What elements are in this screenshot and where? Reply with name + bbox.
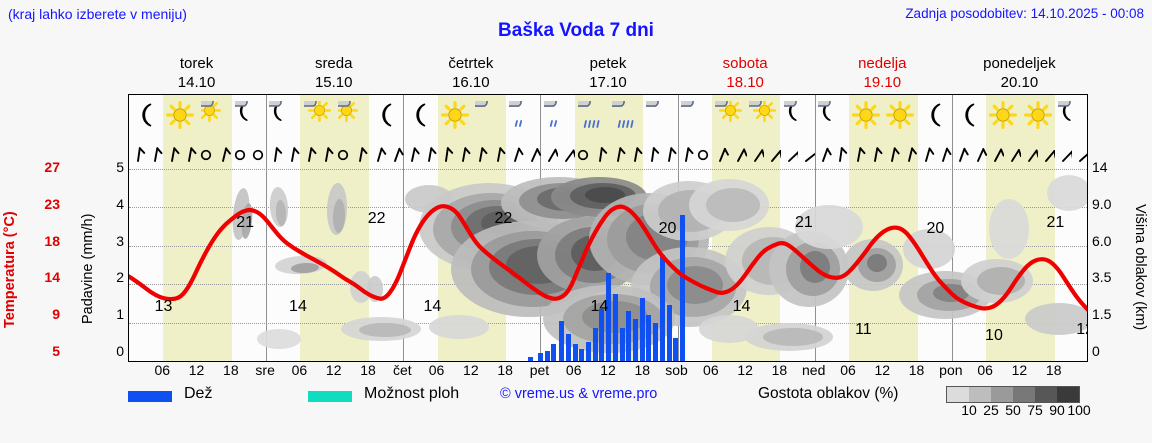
- temperature-tick-5: 5: [52, 343, 60, 359]
- weather-icon-cloud-rain: [578, 101, 606, 129]
- temperature-axis-title: Temperatura (°C): [2, 170, 24, 370]
- temperature-tick-1: 23: [44, 196, 60, 212]
- cloud-density-legend-ticks: 1025507590100: [938, 402, 1098, 422]
- cloud-density-tick-3: 75: [1027, 402, 1043, 418]
- x-tick-25: 12: [1012, 362, 1028, 378]
- weather-icon-cloud-rain: [612, 101, 640, 129]
- day-header-row: torek14.10sreda15.10četrtek16.10petek17.…: [128, 54, 1088, 94]
- temperature-line: [129, 169, 1087, 361]
- weather-icon-moon-cloud: [235, 101, 263, 129]
- day-name: petek: [539, 54, 676, 73]
- wind-barb-13: [351, 138, 369, 168]
- chart-legend: Dež Možnost ploh © vreme.us & vreme.pro …: [128, 385, 1088, 431]
- weather-icon-sun: [1024, 101, 1052, 129]
- wind-barb-49: [969, 138, 987, 168]
- wind-barb-40: [814, 138, 832, 168]
- wind-barb-20: [471, 138, 489, 168]
- weather-forecast-page: (kraj lahko izberete v meniju) Baška Vod…: [0, 0, 1152, 443]
- day-date: 20.10: [951, 73, 1088, 92]
- day-separator-6: [952, 95, 953, 137]
- wind-barb-51: [1003, 138, 1021, 168]
- temperature-tick-3: 14: [44, 269, 60, 285]
- x-tick-19: ned: [802, 362, 825, 378]
- wind-barb-4: [197, 138, 215, 168]
- wind-barb-19: [454, 138, 472, 168]
- weather-icon-cloud: [475, 101, 503, 129]
- wind-barb-52: [1020, 138, 1038, 168]
- day-date: 16.10: [402, 73, 539, 92]
- rain-legend-label: Dež: [184, 385, 212, 403]
- x-tick-7: čet: [393, 362, 412, 378]
- temperature-label-min-6: 14: [590, 298, 608, 316]
- wind-barb-42: [849, 138, 867, 168]
- cloud-density-tick-5: 100: [1067, 402, 1090, 418]
- page-title: Baška Voda 7 dni: [0, 20, 1152, 42]
- wind-barb-30: [643, 138, 661, 168]
- day-name: torek: [128, 54, 265, 73]
- forecast-plot-frame: 132114221422142014211120102112: [128, 94, 1088, 362]
- x-tick-9: 12: [463, 362, 479, 378]
- cloud-density-step-1: [969, 387, 991, 402]
- x-tick-12: 06: [566, 362, 582, 378]
- wind-barb-26: [574, 138, 592, 168]
- x-tick-5: 12: [326, 362, 342, 378]
- x-tick-3: sre: [255, 362, 274, 378]
- day-header-0: torek14.10: [128, 54, 265, 94]
- cloud-height-axis-ticks: 149.06.03.51.50: [1092, 160, 1124, 370]
- wind-barb-36: [746, 138, 764, 168]
- day-header-2: četrtek16.10: [402, 54, 539, 94]
- wind-barb-38: [780, 138, 798, 168]
- weather-icon-moon: [921, 101, 949, 129]
- weather-icon-band: [129, 95, 1087, 137]
- x-tick-2: 18: [223, 362, 239, 378]
- wind-barb-7: [249, 138, 267, 168]
- wind-barb-25: [557, 138, 575, 168]
- cloud-height-tick-4: 1.5: [1092, 306, 1111, 322]
- wind-barb-24: [540, 138, 558, 168]
- x-tick-16: 06: [703, 362, 719, 378]
- temperature-label-max-7: 20: [659, 220, 677, 238]
- weather-icon-sun-cloud: [338, 101, 366, 129]
- cloud-density-step-4: [1035, 387, 1057, 402]
- showers-legend-swatch: [308, 391, 352, 402]
- cloud-density-tick-1: 25: [983, 402, 999, 418]
- cloud-density-legend-title: Gostota oblakov (%): [758, 385, 898, 403]
- temperature-axis-ticks: 2723181495: [28, 160, 60, 370]
- wind-barb-28: [609, 138, 627, 168]
- wind-barb-35: [729, 138, 747, 168]
- wind-barb-53: [1037, 138, 1055, 168]
- wind-barb-band: [129, 137, 1087, 169]
- temperature-label-max-1: 21: [236, 214, 254, 232]
- weather-icon-cloud-sun: [715, 101, 743, 129]
- precipitation-tick-5: 0: [116, 343, 124, 359]
- cloud-density-gradient-bar: [946, 386, 1080, 403]
- day-name: sobota: [677, 54, 814, 73]
- cloud-height-axis-title: Višina oblakov (km): [1124, 160, 1148, 375]
- cloud-density-step-2: [991, 387, 1013, 402]
- wind-barb-18: [437, 138, 455, 168]
- wind-barb-41: [831, 138, 849, 168]
- day-name: nedelja: [814, 54, 951, 73]
- x-tick-18: 18: [772, 362, 788, 378]
- day-date: 19.10: [814, 73, 951, 92]
- weather-icon-cloud-drizzle: [509, 101, 537, 129]
- weather-icon-sun: [441, 101, 469, 129]
- temperature-label-max-3: 22: [368, 210, 386, 228]
- wind-barb-21: [489, 138, 507, 168]
- wind-barb-33: [694, 138, 712, 168]
- wind-barb-45: [900, 138, 918, 168]
- wind-barb-46: [917, 138, 935, 168]
- wind-barb-10: [300, 138, 318, 168]
- day-date: 18.10: [677, 73, 814, 92]
- x-axis-tick-labels: 061218sre061218čet061218pet061218sob0612…: [128, 362, 1088, 382]
- wind-barb-39: [797, 138, 815, 168]
- weather-icon-cloud-sun: [304, 101, 332, 129]
- temperature-tick-0: 27: [44, 159, 60, 175]
- temperature-label-min-14: 12: [1076, 321, 1087, 339]
- day-name: sreda: [265, 54, 402, 73]
- cloud-height-tick-5: 0: [1092, 343, 1100, 359]
- weather-icon-cloud-sun: [749, 101, 777, 129]
- precipitation-axis-title: Padavine (mm/h): [80, 168, 102, 370]
- day-header-6: ponedeljek20.10: [951, 54, 1088, 94]
- day-date: 17.10: [539, 73, 676, 92]
- day-separator-5: [815, 95, 816, 137]
- temperature-label-max-9: 21: [795, 214, 813, 232]
- rain-legend-swatch: [128, 391, 172, 402]
- wind-barb-11: [317, 138, 335, 168]
- weather-icon-moon: [132, 101, 160, 129]
- precipitation-tick-2: 3: [116, 233, 124, 249]
- weather-icon-moon-cloud: [784, 101, 812, 129]
- temperature-label-min-12: 10: [985, 327, 1003, 345]
- temperature-label-max-5: 22: [494, 210, 512, 228]
- temperature-label-max-11: 20: [926, 220, 944, 238]
- wind-barb-9: [283, 138, 301, 168]
- wind-barb-31: [660, 138, 678, 168]
- weather-icon-moon: [372, 101, 400, 129]
- wind-barb-6: [231, 138, 249, 168]
- day-separator-2: [403, 95, 404, 137]
- precipitation-tick-0: 5: [116, 159, 124, 175]
- day-separator-4: [678, 95, 679, 137]
- day-name: četrtek: [402, 54, 539, 73]
- wind-barb-8: [266, 138, 284, 168]
- day-date: 14.10: [128, 73, 265, 92]
- wind-barb-55: [1071, 138, 1087, 168]
- weather-icon-moon-cloud: [269, 101, 297, 129]
- wind-barb-48: [951, 138, 969, 168]
- x-tick-10: 18: [497, 362, 513, 378]
- wind-barb-16: [403, 138, 421, 168]
- wind-barb-54: [1054, 138, 1072, 168]
- last-updated-label: Zadnja posodobitev: 14.10.2025 - 00:08: [905, 6, 1144, 21]
- x-tick-26: 18: [1046, 362, 1062, 378]
- day-date: 15.10: [265, 73, 402, 92]
- day-header-4: sobota18.10: [677, 54, 814, 94]
- x-tick-8: 06: [429, 362, 445, 378]
- weather-icon-sun: [989, 101, 1017, 129]
- cloud-height-tick-1: 9.0: [1092, 196, 1111, 212]
- x-tick-6: 18: [360, 362, 376, 378]
- day-header-3: petek17.10: [539, 54, 676, 94]
- cloud-height-tick-3: 3.5: [1092, 269, 1111, 285]
- wind-barb-14: [369, 138, 387, 168]
- cloud-density-step-3: [1013, 387, 1035, 402]
- wind-barb-44: [883, 138, 901, 168]
- day-header-1: sreda15.10: [265, 54, 402, 94]
- wind-barb-15: [386, 138, 404, 168]
- wind-barb-0: [129, 138, 147, 168]
- day-name: ponedeljek: [951, 54, 1088, 73]
- wind-barb-27: [591, 138, 609, 168]
- x-tick-20: 06: [840, 362, 856, 378]
- x-tick-13: 12: [600, 362, 616, 378]
- wind-barb-5: [214, 138, 232, 168]
- temperature-label-min-2: 14: [289, 298, 307, 316]
- x-tick-22: 18: [909, 362, 925, 378]
- day-separator-3: [540, 95, 541, 137]
- wind-barb-3: [180, 138, 198, 168]
- showers-legend-label: Možnost ploh: [364, 385, 459, 403]
- weather-icon-moon: [955, 101, 983, 129]
- cloud-density-step-0: [947, 387, 969, 402]
- wind-barb-12: [334, 138, 352, 168]
- temperature-tick-2: 18: [44, 233, 60, 249]
- cloud-density-step-5: [1057, 387, 1079, 402]
- weather-icon-sun: [166, 101, 194, 129]
- x-tick-4: 06: [292, 362, 308, 378]
- wind-barb-32: [677, 138, 695, 168]
- x-tick-21: 12: [874, 362, 890, 378]
- wind-barb-17: [420, 138, 438, 168]
- weather-icon-cloud: [646, 101, 674, 129]
- wind-barb-34: [711, 138, 729, 168]
- wind-barb-22: [506, 138, 524, 168]
- precipitation-tick-1: 4: [116, 196, 124, 212]
- wind-barb-29: [626, 138, 644, 168]
- precipitation-tick-4: 1: [116, 306, 124, 322]
- wind-barb-50: [986, 138, 1004, 168]
- wind-barb-43: [866, 138, 884, 168]
- cloud-density-tick-0: 10: [961, 402, 977, 418]
- copyright-link[interactable]: © vreme.us & vreme.pro: [500, 386, 657, 402]
- weather-icon-moon-cloud: [1058, 101, 1086, 129]
- wind-barb-2: [163, 138, 181, 168]
- cloud-height-tick-0: 14: [1092, 159, 1108, 175]
- cloud-density-tick-2: 50: [1005, 402, 1021, 418]
- wind-barb-37: [763, 138, 781, 168]
- wind-barb-1: [146, 138, 164, 168]
- temperature-tick-4: 9: [52, 306, 60, 322]
- x-tick-15: sob: [665, 362, 688, 378]
- weather-icon-cloud: [681, 101, 709, 129]
- x-tick-14: 18: [634, 362, 650, 378]
- temperature-label-max-13: 21: [1046, 214, 1064, 232]
- x-tick-1: 12: [189, 362, 205, 378]
- x-tick-17: 12: [737, 362, 753, 378]
- day-separator-1: [266, 95, 267, 137]
- wind-barb-47: [934, 138, 952, 168]
- temperature-precipitation-plot: 132114221422142014211120102112: [129, 169, 1087, 361]
- temperature-label-min-8: 14: [733, 298, 751, 316]
- precipitation-axis-ticks: 543210: [100, 160, 124, 370]
- x-tick-23: pon: [939, 362, 962, 378]
- weather-icon-sun: [852, 101, 880, 129]
- wind-barb-23: [523, 138, 541, 168]
- temperature-label-min-0: 13: [155, 298, 173, 316]
- weather-icon-moon: [406, 101, 434, 129]
- weather-icon-sun-cloud: [201, 101, 229, 129]
- x-tick-0: 06: [154, 362, 170, 378]
- temperature-label-min-10: 11: [855, 321, 872, 339]
- temperature-label-min-4: 14: [423, 298, 441, 316]
- x-tick-24: 06: [977, 362, 993, 378]
- cloud-height-tick-2: 6.0: [1092, 233, 1111, 249]
- x-tick-11: pet: [530, 362, 549, 378]
- weather-icon-moon-cloud: [818, 101, 846, 129]
- precipitation-tick-3: 2: [116, 269, 124, 285]
- weather-icon-sun: [886, 101, 914, 129]
- cloud-density-tick-4: 90: [1049, 402, 1065, 418]
- day-header-5: nedelja19.10: [814, 54, 951, 94]
- weather-icon-cloud-drizzle: [544, 101, 572, 129]
